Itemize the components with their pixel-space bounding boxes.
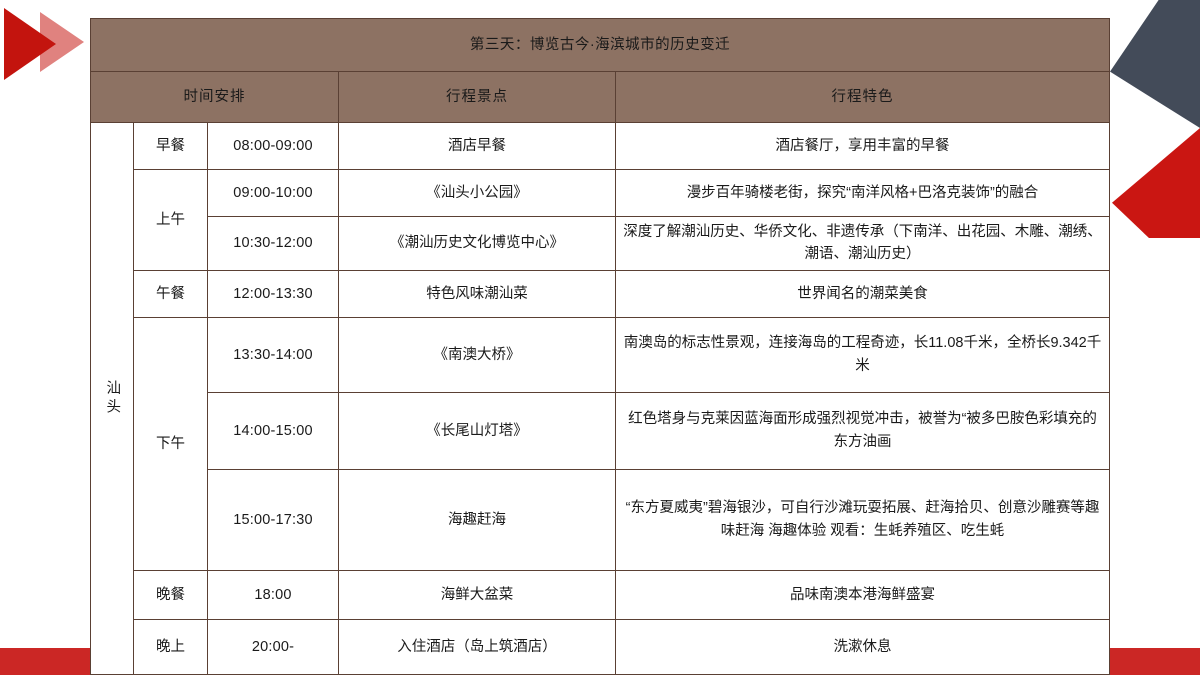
row-time: 08:00-09:00 (208, 123, 339, 170)
row-spot: 《长尾山灯塔》 (339, 392, 616, 469)
row-time: 12:00-13:30 (208, 270, 339, 317)
right-slate-chevron-icon (1110, 0, 1200, 128)
row-time: 10:30-12:00 (208, 217, 339, 271)
row-time: 20:00- (208, 619, 339, 674)
row-spot: 《南澳大桥》 (339, 317, 616, 392)
table-row: 晚上 20:00- 入住酒店（岛上筑酒店） 洗漱休息 (91, 619, 1110, 674)
row-feature: 酒店餐厅，享用丰富的早餐 (616, 123, 1110, 170)
table-row: 下午 13:30-14:00 《南澳大桥》 南澳岛的标志性景观，连接海岛的工程奇… (91, 317, 1110, 392)
period-label-lunch: 午餐 (134, 270, 208, 317)
city-label: 汕头 (91, 123, 134, 675)
period-label-afternoon: 下午 (134, 317, 208, 570)
table-row: 10:30-12:00 《潮汕历史文化博览中心》 深度了解潮汕历史、华侨文化、非… (91, 217, 1110, 271)
table-header-row: 时间安排 行程景点 行程特色 (91, 72, 1110, 123)
period-label-night: 晚上 (134, 619, 208, 674)
table-row: 午餐 12:00-13:30 特色风味潮汕菜 世界闻名的潮菜美食 (91, 270, 1110, 317)
row-spot: 《汕头小公园》 (339, 170, 616, 217)
row-feature: 红色塔身与克莱因蓝海面形成强烈视觉冲击，被誉为“被多巴胺色彩填充的东方油画 (616, 392, 1110, 469)
row-feature: 深度了解潮汕历史、华侨文化、非遗传承（下南洋、出花园、木雕、潮绣、潮语、潮汕历史… (616, 217, 1110, 271)
row-time: 14:00-15:00 (208, 392, 339, 469)
row-time: 18:00 (208, 570, 339, 619)
period-label-breakfast: 早餐 (134, 123, 208, 170)
left-red-triangle-icon (4, 8, 56, 80)
table-row: 上午 09:00-10:00 《汕头小公园》 漫步百年骑楼老街，探究“南洋风格+… (91, 170, 1110, 217)
table-row: 15:00-17:30 海趣赶海 “东方夏威夷”碧海银沙，可自行沙滩玩耍拓展、赶… (91, 469, 1110, 570)
row-spot: 入住酒店（岛上筑酒店） (339, 619, 616, 674)
row-feature: “东方夏威夷”碧海银沙，可自行沙滩玩耍拓展、赶海拾贝、创意沙雕赛等趣味赶海 海趣… (616, 469, 1110, 570)
column-header-feature: 行程特色 (616, 72, 1110, 123)
row-time: 09:00-10:00 (208, 170, 339, 217)
column-header-spot: 行程景点 (339, 72, 616, 123)
itinerary-table-wrapper: 第三天：博览古今·海滨城市的历史变迁 时间安排 行程景点 行程特色 汕头 早餐 … (90, 18, 1110, 675)
right-red-chevron-icon (1112, 128, 1200, 238)
row-time: 13:30-14:00 (208, 317, 339, 392)
row-feature: 品味南澳本港海鲜盛宴 (616, 570, 1110, 619)
row-time: 15:00-17:30 (208, 469, 339, 570)
row-spot: 《潮汕历史文化博览中心》 (339, 217, 616, 271)
period-label-morning: 上午 (134, 170, 208, 271)
itinerary-table: 第三天：博览古今·海滨城市的历史变迁 时间安排 行程景点 行程特色 汕头 早餐 … (90, 18, 1110, 675)
column-header-time: 时间安排 (91, 72, 339, 123)
table-title-row: 第三天：博览古今·海滨城市的历史变迁 (91, 19, 1110, 72)
row-spot: 酒店早餐 (339, 123, 616, 170)
row-spot: 海趣赶海 (339, 469, 616, 570)
page-title: 第三天：博览古今·海滨城市的历史变迁 (91, 19, 1110, 72)
table-row: 14:00-15:00 《长尾山灯塔》 红色塔身与克莱因蓝海面形成强烈视觉冲击，… (91, 392, 1110, 469)
row-feature: 漫步百年骑楼老街，探究“南洋风格+巴洛克装饰”的融合 (616, 170, 1110, 217)
slide-canvas: 第三天：博览古今·海滨城市的历史变迁 时间安排 行程景点 行程特色 汕头 早餐 … (0, 0, 1200, 675)
table-row: 晚餐 18:00 海鲜大盆菜 品味南澳本港海鲜盛宴 (91, 570, 1110, 619)
row-feature: 南澳岛的标志性景观，连接海岛的工程奇迹，长11.08千米，全桥长9.342千米 (616, 317, 1110, 392)
row-feature: 洗漱休息 (616, 619, 1110, 674)
period-label-dinner: 晚餐 (134, 570, 208, 619)
row-feature: 世界闻名的潮菜美食 (616, 270, 1110, 317)
row-spot: 特色风味潮汕菜 (339, 270, 616, 317)
row-spot: 海鲜大盆菜 (339, 570, 616, 619)
city-label-text: 汕头 (101, 380, 123, 417)
table-row: 汕头 早餐 08:00-09:00 酒店早餐 酒店餐厅，享用丰富的早餐 (91, 123, 1110, 170)
